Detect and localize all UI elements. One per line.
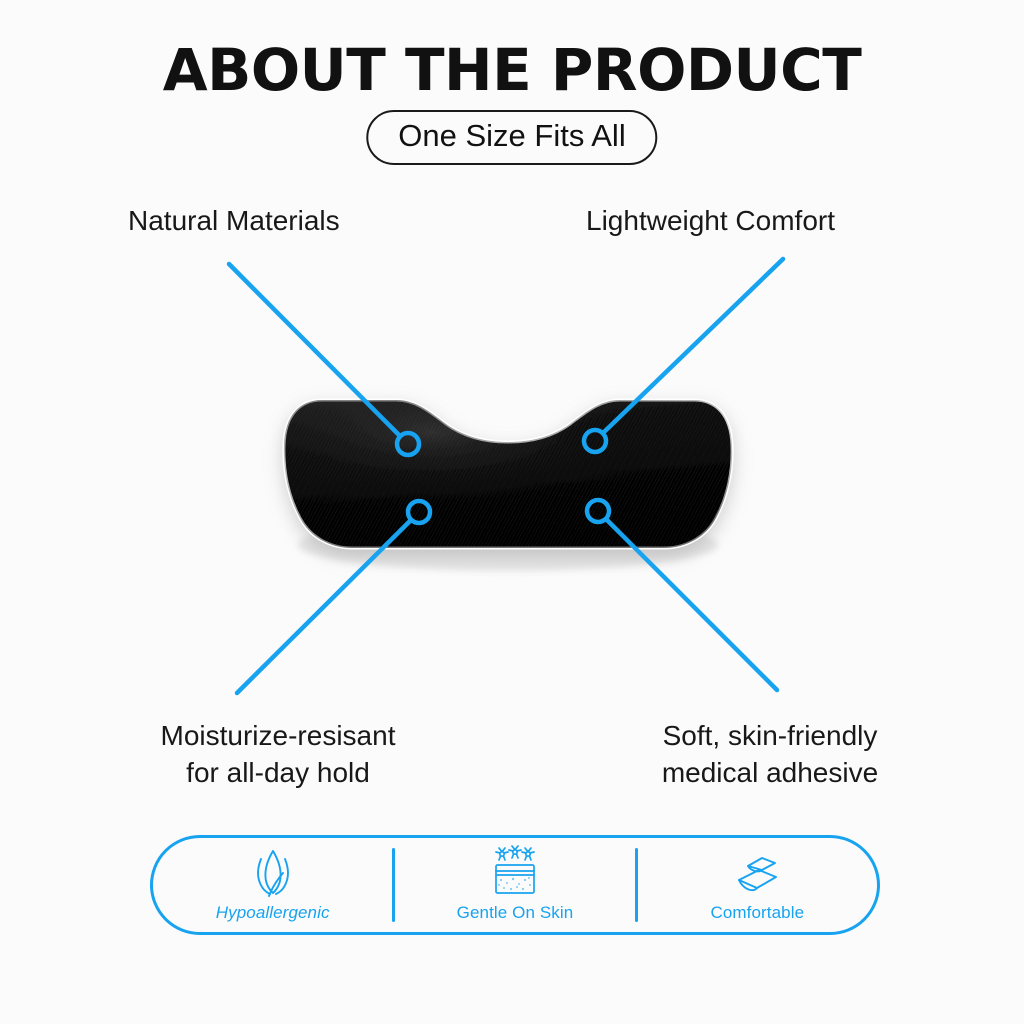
callout-label-moisturize-resistant: Moisturize-resisant for all-day hold bbox=[128, 718, 428, 792]
feature-item-hypoallergenic[interactable]: Hypoallergenic bbox=[153, 838, 392, 932]
leaf-icon bbox=[249, 847, 297, 899]
product-shadow bbox=[298, 519, 718, 571]
callout-label-skin-friendly-adhesive: Soft, skin-friendly medical adhesive bbox=[630, 718, 910, 792]
callout-marker-skin-friendly-adhesive[interactable] bbox=[587, 500, 609, 522]
callout-leader-lines bbox=[229, 259, 783, 693]
callout-label-natural-materials: Natural Materials bbox=[128, 203, 340, 240]
feature-item-comfortable[interactable]: Comfortable bbox=[638, 838, 877, 932]
leader-line-lightweight-comfort bbox=[603, 259, 783, 433]
skin-layers-icon bbox=[487, 847, 543, 899]
feature-label-hypoallergenic: Hypoallergenic bbox=[216, 903, 330, 923]
product-patch bbox=[284, 400, 732, 548]
subtitle-pill: One Size Fits All bbox=[366, 110, 657, 165]
callout-marker-lightweight-comfort[interactable] bbox=[584, 430, 606, 452]
callout-marker-moisturize-resistant[interactable] bbox=[408, 501, 430, 523]
feature-label-comfortable: Comfortable bbox=[710, 903, 804, 923]
feature-item-gentle-on-skin[interactable]: Gentle On Skin bbox=[395, 838, 634, 932]
callout-label-lightweight-comfort: Lightweight Comfort bbox=[586, 203, 835, 240]
page-title: ABOUT THE PRODUCT bbox=[0, 36, 1024, 104]
leader-line-moisturize-resistant bbox=[237, 520, 411, 693]
feature-bar: Hypoallergenic bbox=[150, 835, 880, 935]
stacked-layers-icon bbox=[729, 847, 785, 899]
leader-line-natural-materials bbox=[229, 264, 400, 436]
callout-markers bbox=[397, 430, 609, 523]
leader-line-skin-friendly-adhesive bbox=[606, 519, 777, 690]
infographic-canvas: ABOUT THE PRODUCT One Size Fits All Natu… bbox=[0, 0, 1024, 1024]
callout-marker-natural-materials[interactable] bbox=[397, 433, 419, 455]
feature-label-gentle-on-skin: Gentle On Skin bbox=[457, 903, 574, 923]
